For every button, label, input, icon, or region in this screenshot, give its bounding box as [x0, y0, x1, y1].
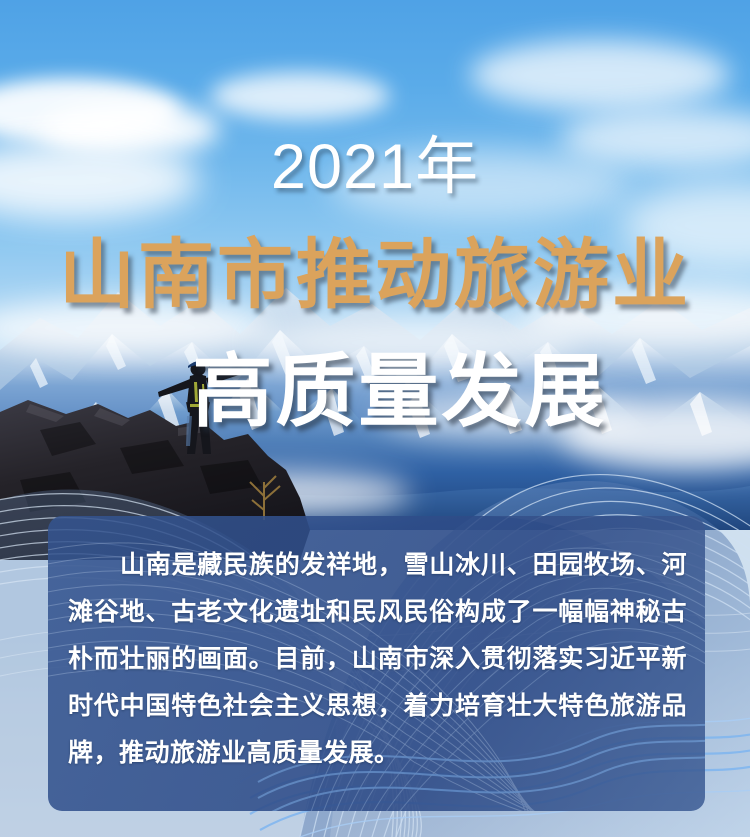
description-panel: 山南是藏民族的发祥地，雪山冰川、田园牧场、河滩谷地、古老文化遗址和民风民俗构成了…	[48, 516, 705, 811]
cloud-shape	[210, 72, 390, 120]
page-title-main: 山南市推动旅游业	[0, 238, 750, 314]
poster-root: 2021年 山南市推动旅游业 高质量发展	[0, 0, 750, 837]
cloud-shape	[470, 40, 730, 110]
description-text: 山南是藏民族的发祥地，雪山冰川、田园牧场、河滩谷地、古老文化遗址和民风民俗构成了…	[68, 542, 687, 777]
page-title-sub: 高质量发展	[0, 352, 750, 432]
page-title-year: 2021年	[0, 136, 750, 199]
